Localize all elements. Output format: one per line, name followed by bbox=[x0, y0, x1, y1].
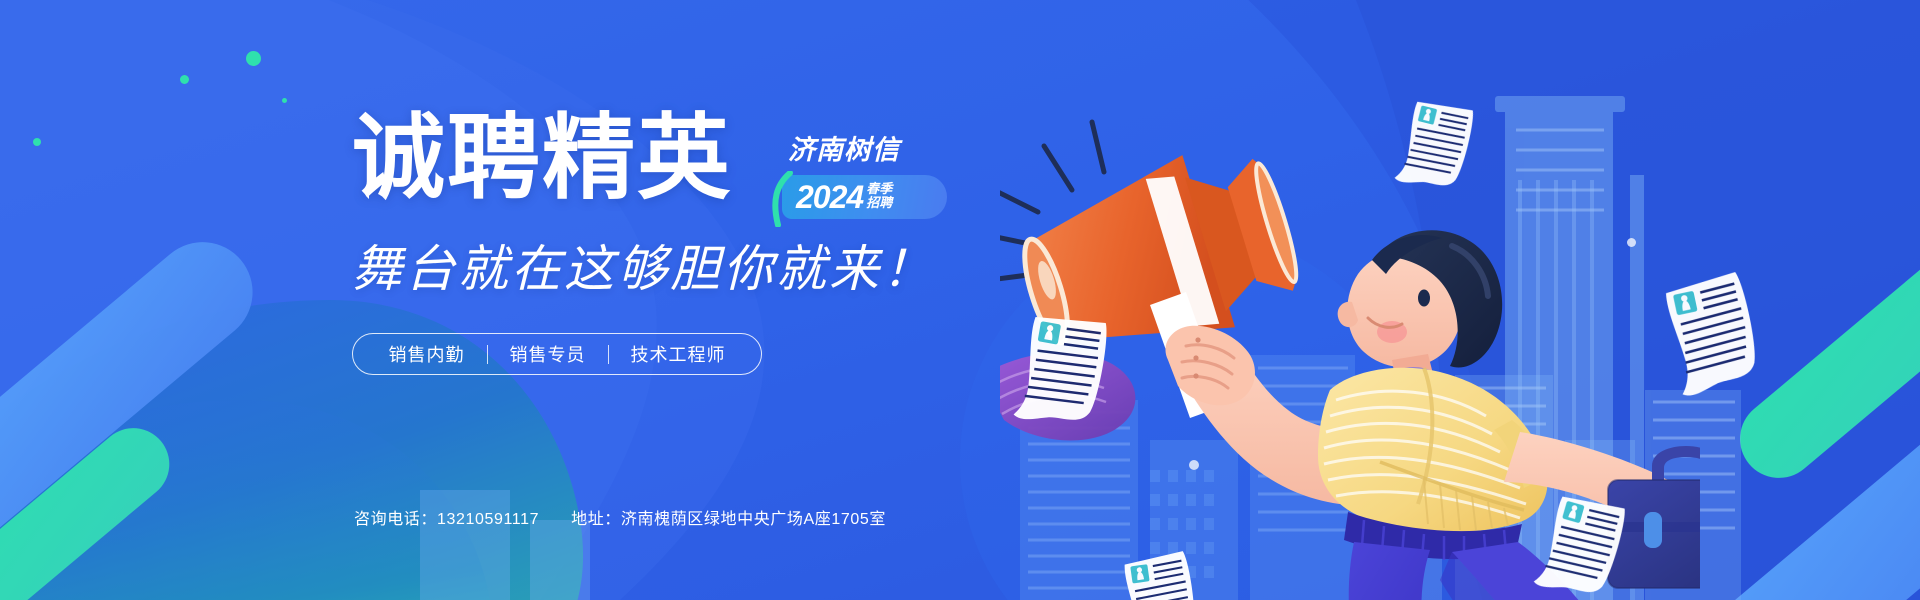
brand-name: 济南树信 bbox=[788, 128, 970, 167]
job-tag-2[interactable]: 技术工程师 bbox=[609, 341, 748, 367]
job-tag-0[interactable]: 销售内勤 bbox=[367, 341, 487, 367]
decor-dot bbox=[282, 98, 287, 103]
recruitment-banner: 诚聘精英 舞台就在这够胆你就来！ 销售内勤 销售专员 技术工程师 济南树信 20… bbox=[0, 0, 1920, 600]
year-number: 2024 bbox=[796, 181, 863, 213]
season-label: 春季 招聘 bbox=[866, 182, 892, 209]
green-hook-icon bbox=[768, 171, 798, 227]
brand-badge-group: 济南树信 2024 春季 招聘 bbox=[770, 128, 970, 219]
businessman-illustration bbox=[1000, 60, 1700, 600]
decor-dot bbox=[33, 138, 41, 146]
page-title: 诚聘精英 bbox=[352, 112, 732, 205]
season-line-1: 春季 bbox=[866, 182, 892, 196]
contact-address: 地址：济南槐荫区绿地中央广场A座1705室 bbox=[571, 505, 886, 529]
season-line-2: 招聘 bbox=[866, 196, 892, 210]
subheadline: 舞台就在这够胆你就来！ bbox=[352, 229, 1052, 301]
year-badge: 2024 春季 招聘 bbox=[782, 175, 947, 219]
contact-phone: 咨询电话：13210591117 bbox=[354, 505, 539, 529]
decor-dot bbox=[246, 51, 261, 66]
decor-dot bbox=[180, 75, 189, 84]
contact-info: 咨询电话：13210591117 地址：济南槐荫区绿地中央广场A座1705室 bbox=[354, 505, 886, 529]
job-tags-pill: 销售内勤 销售专员 技术工程师 bbox=[352, 333, 762, 375]
job-tag-1[interactable]: 销售专员 bbox=[488, 341, 608, 367]
